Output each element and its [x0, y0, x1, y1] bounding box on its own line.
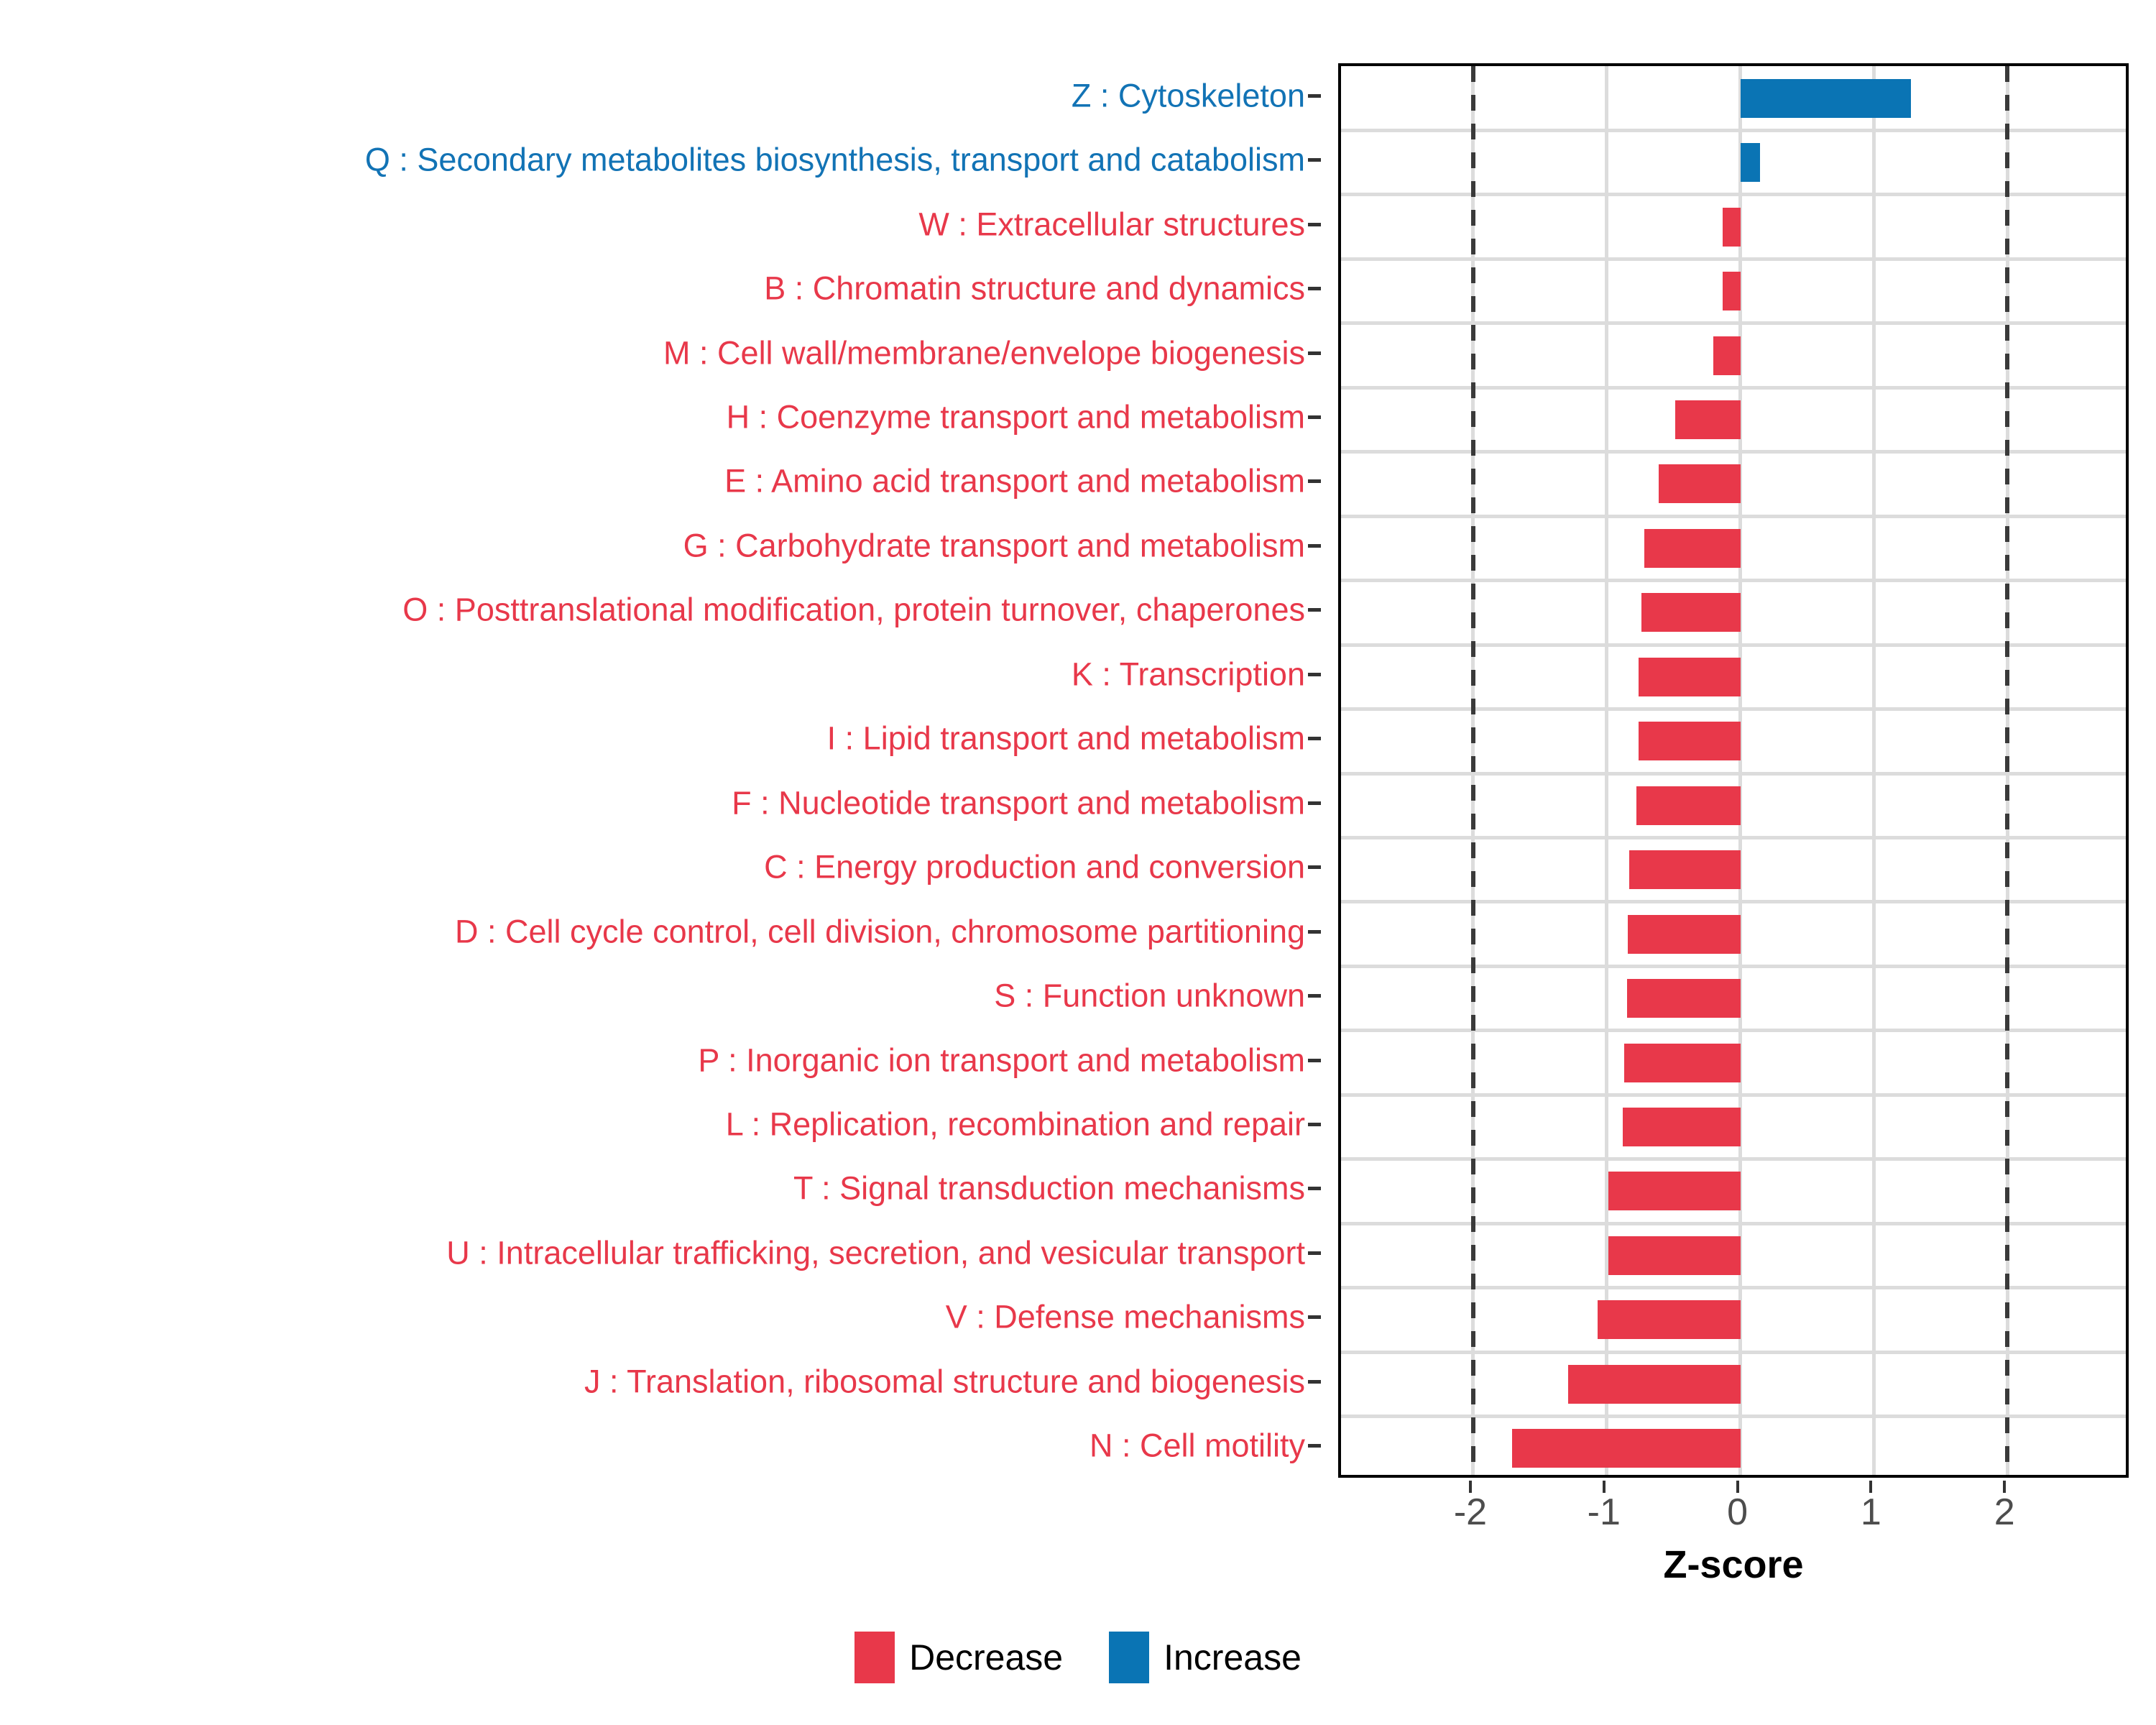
category-label: W : Extracellular structures — [918, 208, 1305, 240]
category-tick-mark — [1308, 673, 1321, 676]
figure-root: Z : CytoskeletonQ : Secondary metabolite… — [0, 0, 2156, 1725]
category-label: M : Cell wall/membrane/envelope biogenes… — [663, 336, 1305, 369]
category-label: O : Posttranslational modification, prot… — [402, 594, 1305, 626]
category-label: I : Lipid transport and metabolism — [827, 722, 1305, 755]
bar — [1624, 1044, 1741, 1082]
bar — [1568, 1365, 1741, 1404]
plot-panel — [1338, 63, 2129, 1478]
category-tick-mark — [1308, 1251, 1321, 1255]
category-tick-mark — [1308, 994, 1321, 998]
bar — [1641, 593, 1741, 632]
x-axis-tick-label: 1 — [1861, 1494, 1881, 1531]
legend: DecreaseIncrease — [0, 1632, 2156, 1683]
bar — [1723, 208, 1740, 247]
category-tick-mark — [1308, 158, 1321, 162]
bar — [1623, 1108, 1741, 1146]
category-tick-mark — [1308, 801, 1321, 805]
x-axis-tick-label: 2 — [1994, 1494, 2015, 1531]
bar — [1512, 1429, 1741, 1468]
bar — [1644, 529, 1741, 568]
cog-zscore-barchart: Z : CytoskeletonQ : Secondary metabolite… — [0, 0, 2156, 1574]
category-tick-mark — [1308, 1059, 1321, 1062]
x-axis-tick-label: -2 — [1454, 1494, 1487, 1531]
category-label: B : Chromatin structure and dynamics — [764, 272, 1305, 305]
bar — [1659, 464, 1740, 503]
category-label: N : Cell motility — [1089, 1430, 1305, 1462]
category-tick-mark — [1308, 94, 1321, 98]
category-label: E : Amino acid transport and metabolism — [724, 465, 1305, 497]
category-tick-mark — [1308, 1444, 1321, 1448]
x-axis-tick-label: 0 — [1727, 1494, 1748, 1531]
gridline-vertical — [1872, 66, 1876, 1475]
bar — [1741, 79, 1912, 118]
bar — [1608, 1172, 1741, 1210]
bar — [1723, 272, 1740, 310]
legend-label: Decrease — [909, 1639, 1063, 1675]
bar — [1627, 979, 1741, 1018]
x-axis-tick-label: -1 — [1588, 1494, 1621, 1531]
bar — [1639, 658, 1740, 696]
bar — [1629, 850, 1740, 889]
category-label: J : Translation, ribosomal structure and… — [584, 1365, 1305, 1397]
legend-color-swatch — [1109, 1632, 1149, 1683]
category-tick-mark — [1308, 415, 1321, 419]
category-tick-mark — [1308, 930, 1321, 934]
legend-item: Increase — [1109, 1632, 1302, 1683]
category-tick-mark — [1308, 1380, 1321, 1384]
legend-label: Increase — [1164, 1639, 1302, 1675]
category-tick-mark — [1308, 1187, 1321, 1190]
category-label: S : Function unknown — [994, 980, 1305, 1012]
category-tick-mark — [1308, 608, 1321, 612]
legend-color-swatch — [854, 1632, 895, 1683]
category-axis-labels: Z : CytoskeletonQ : Secondary metabolite… — [0, 63, 1321, 1478]
category-tick-mark — [1308, 1315, 1321, 1319]
bar — [1675, 400, 1741, 439]
category-tick-mark — [1308, 737, 1321, 740]
bar — [1628, 915, 1740, 954]
category-label: Q : Secondary metabolites biosynthesis, … — [365, 144, 1305, 176]
bar — [1608, 1236, 1741, 1275]
bar — [1598, 1300, 1741, 1339]
category-tick-mark — [1308, 479, 1321, 483]
category-label: G : Carbohydrate transport and metabolis… — [683, 529, 1305, 561]
category-tick-mark — [1308, 287, 1321, 290]
category-tick-mark — [1308, 865, 1321, 869]
category-tick-mark — [1308, 1123, 1321, 1126]
category-tick-mark — [1308, 544, 1321, 548]
legend-item: Decrease — [854, 1632, 1063, 1683]
x-axis-title: Z-score — [1338, 1542, 2129, 1587]
category-label: F : Nucleotide transport and metabolism — [732, 786, 1305, 819]
reference-line — [1471, 66, 1475, 1475]
category-label: Z : Cytoskeleton — [1072, 79, 1305, 111]
bar — [1636, 786, 1741, 825]
category-tick-mark — [1308, 351, 1321, 355]
category-label: V : Defense mechanisms — [946, 1301, 1305, 1333]
category-label: T : Signal transduction mechanisms — [793, 1172, 1305, 1205]
category-tick-mark — [1308, 223, 1321, 226]
category-label: K : Transcription — [1072, 658, 1305, 690]
category-label: C : Energy production and conversion — [764, 851, 1305, 883]
bar — [1639, 722, 1740, 760]
category-label: D : Cell cycle control, cell division, c… — [455, 915, 1305, 947]
bar — [1713, 336, 1740, 375]
bar — [1741, 143, 1761, 182]
reference-line — [2005, 66, 2009, 1475]
category-label: P : Inorganic ion transport and metaboli… — [698, 1044, 1305, 1076]
category-label: L : Replication, recombination and repai… — [726, 1108, 1305, 1141]
category-label: H : Coenzyme transport and metabolism — [727, 401, 1305, 433]
category-label: U : Intracellular trafficking, secretion… — [446, 1236, 1305, 1269]
